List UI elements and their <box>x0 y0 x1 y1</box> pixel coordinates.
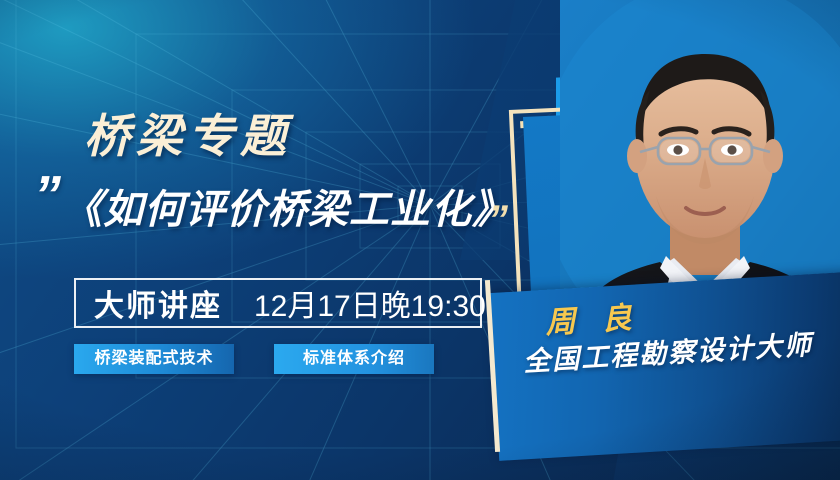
webinar-poster: 周 良 全国工程勘察设计大师 桥梁专题 ” 《如何评价桥梁工业化》 ” 大师讲座… <box>0 0 840 480</box>
vignette-overlay <box>0 0 840 480</box>
